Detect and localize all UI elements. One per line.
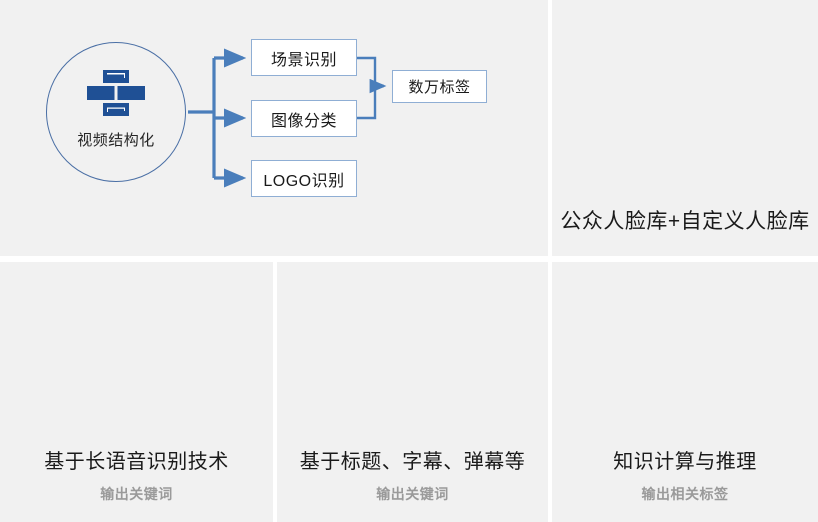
slide-root: 视频结构化 场景识别 图像分类 LOGO识别 数万标签 (0, 0, 818, 522)
panel-video-structuring: 视频结构化 场景识别 图像分类 LOGO识别 数万标签 (0, 0, 548, 256)
layered-blocks-icon (47, 69, 185, 119)
flow-box-image-label: 图像分类 (271, 107, 337, 131)
caption-text-main: 基于标题、字幕、弹幕等 (277, 445, 548, 474)
layered-blocks-icon-svg (85, 69, 147, 119)
caption-knowledge-sub: 输出相关标签 (552, 484, 818, 504)
flow-box-scene-recognition[interactable]: 场景识别 (251, 39, 357, 76)
caption-text-sub: 输出关键词 (277, 484, 548, 504)
caption-knowledge-main: 知识计算与推理 (552, 445, 818, 474)
circle-label-video-structuring: 视频结构化 (47, 129, 185, 150)
flow-box-image-classification[interactable]: 图像分类 (251, 100, 357, 137)
panel-face-recognition: 人脸识别 公众人脸库+自定义人脸库 (552, 0, 818, 256)
caption-face-recognition: 公众人脸库+自定义人脸库 (552, 205, 818, 235)
caption-speech-main: 基于长语音识别技术 (0, 445, 273, 474)
flow-box-scene-label: 场景识别 (271, 46, 337, 70)
panel-speech-recognition: 语音识别 基于长语音识别技术 输出关键词 (0, 262, 273, 522)
caption-speech-sub: 输出关键词 (0, 484, 273, 504)
flow-box-tens-of-thousands-tags[interactable]: 数万标签 (392, 70, 487, 103)
flow-box-logo-label: LOGO识别 (263, 167, 344, 191)
flow-box-logo-recognition[interactable]: LOGO识别 (251, 160, 357, 197)
panel-text-recognition: 文字识别 基于标题、字幕、弹幕等 输出关键词 (277, 262, 548, 522)
flow-box-tags-label: 数万标签 (408, 76, 470, 97)
circle-video-structuring: 视频结构化 (46, 42, 186, 182)
panel-knowledge-graph: 知识图谱 知识计算与推理 输出相关标签 (552, 262, 818, 522)
